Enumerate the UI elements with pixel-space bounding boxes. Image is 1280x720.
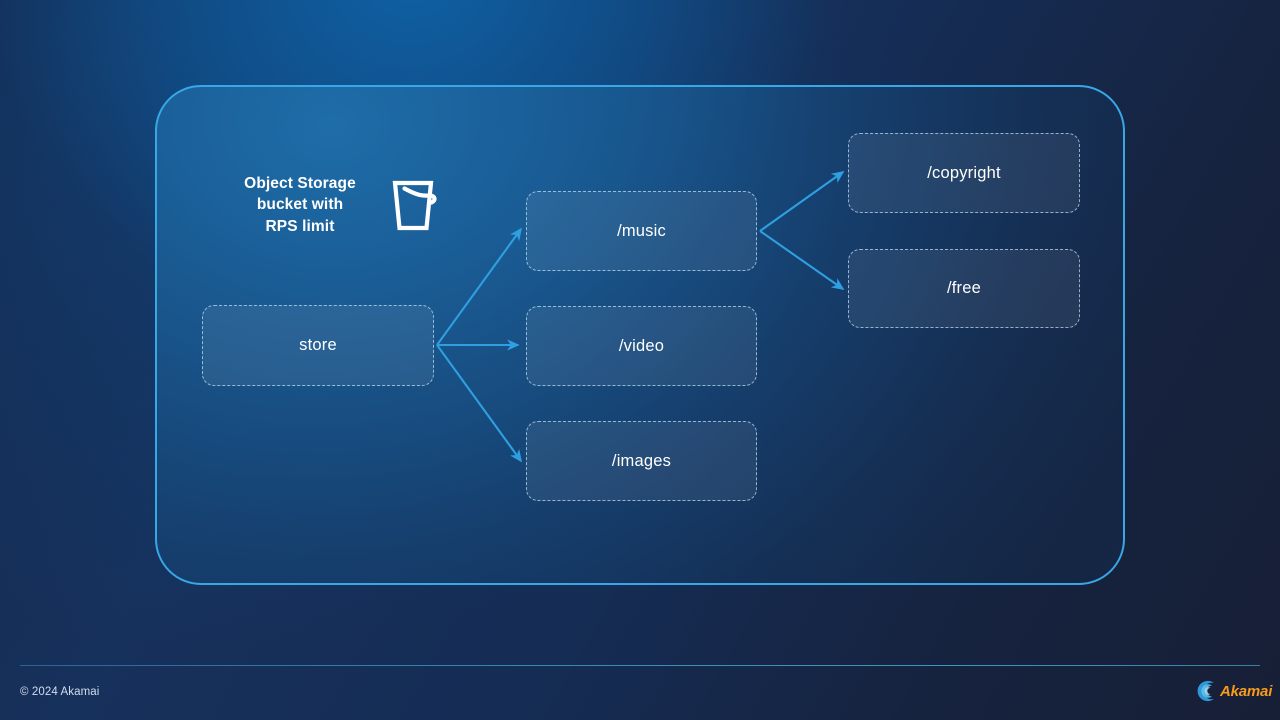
node-copyright[interactable]: /copyright <box>848 133 1080 213</box>
akamai-wave-icon <box>1196 680 1218 702</box>
object-storage-bucket-group: Object Storage bucket with RPS limit <box>230 165 460 245</box>
node-images[interactable]: /images <box>526 421 757 501</box>
footer-divider <box>20 665 1260 666</box>
object-storage-bucket-caption: Object Storage bucket with RPS limit <box>230 173 370 236</box>
bucket-icon <box>384 174 446 236</box>
node-video-label: /video <box>619 337 664 356</box>
slide-canvas: Object Storage bucket with RPS limit sto… <box>0 0 1280 720</box>
footer-copyright: © 2024 Akamai <box>20 686 99 698</box>
node-store-label: store <box>299 336 337 355</box>
node-music-label: /music <box>617 222 666 241</box>
node-images-label: /images <box>612 452 671 471</box>
node-free-label: /free <box>947 279 981 298</box>
node-copyright-label: /copyright <box>927 164 1001 183</box>
node-free[interactable]: /free <box>848 249 1080 328</box>
node-store[interactable]: store <box>202 305 434 386</box>
akamai-wordmark: Akamai <box>1220 684 1272 699</box>
akamai-logo: Akamai <box>1196 678 1270 704</box>
node-music[interactable]: /music <box>526 191 757 271</box>
node-video[interactable]: /video <box>526 306 757 386</box>
